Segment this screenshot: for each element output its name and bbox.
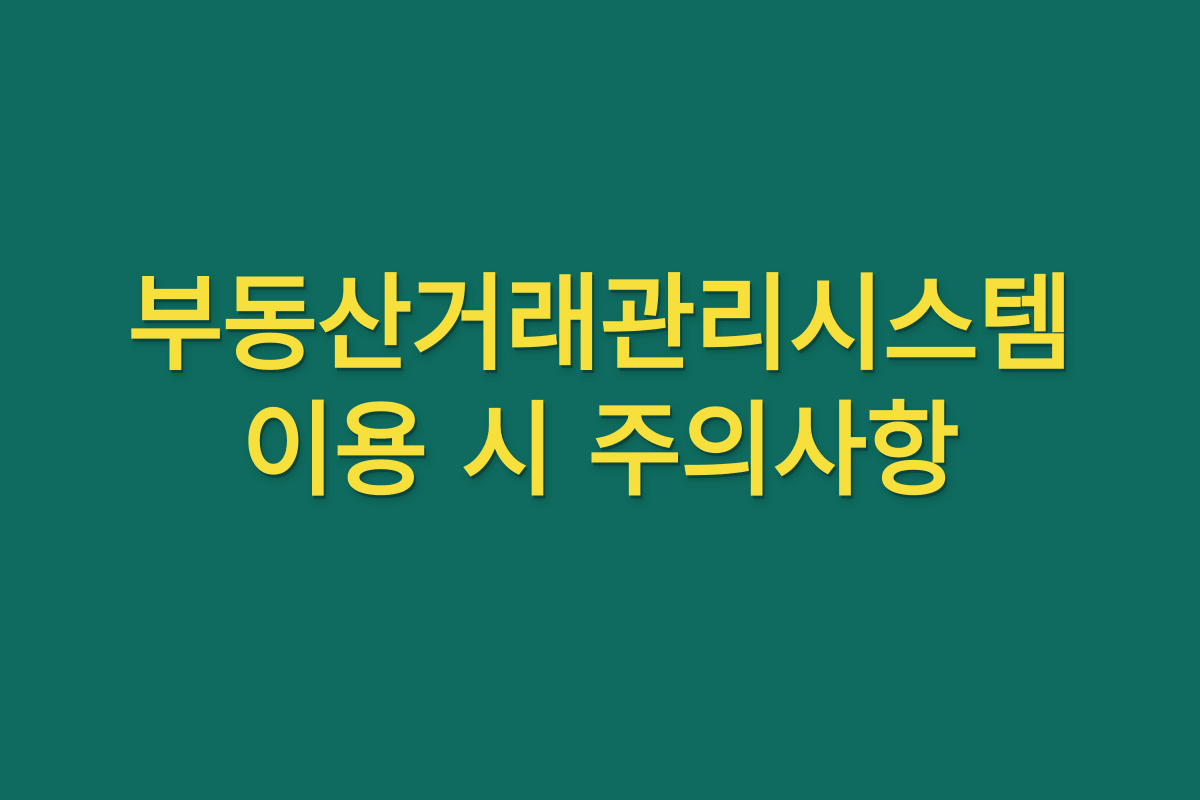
headline-line-1: 부동산거래관리시스템: [0, 263, 1200, 386]
title-card: 부동산거래관리시스템 이용 시 주의사항: [0, 0, 1200, 800]
headline-line-2: 이용 시 주의사항: [0, 392, 1200, 512]
headline-block: 부동산거래관리시스템 이용 시 주의사항: [0, 263, 1200, 512]
